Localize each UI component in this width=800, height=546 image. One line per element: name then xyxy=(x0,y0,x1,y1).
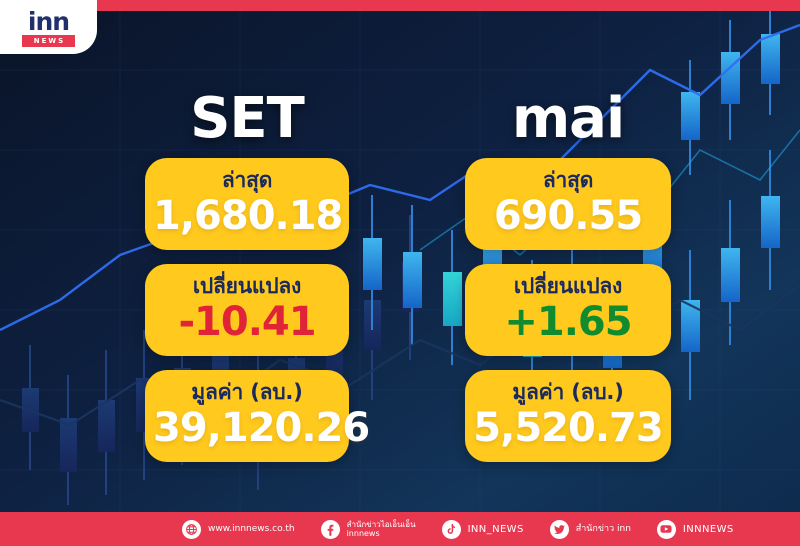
card-value: -10.41 xyxy=(153,299,341,345)
card-label: เปลี่ยนแปลง xyxy=(473,273,663,299)
globe-icon xyxy=(182,520,201,539)
card-label: ล่าสุด xyxy=(153,167,341,193)
footer-tiktok[interactable]: INN_NEWS xyxy=(442,520,524,539)
top-accent-bar xyxy=(0,0,800,11)
footer-website-label: www.innnews.co.th xyxy=(208,524,295,535)
youtube-icon xyxy=(657,520,676,539)
logo-wordmark: inn xyxy=(28,11,69,33)
index-name-set: SET xyxy=(145,88,349,150)
twitter-icon xyxy=(550,520,569,539)
footer-youtube-label: INNNEWS xyxy=(683,524,734,535)
facebook-icon xyxy=(321,520,340,539)
footer-facebook-line2: innnews xyxy=(347,529,416,539)
set-last-price-card: ล่าสุด 1,680.18 xyxy=(145,158,349,250)
card-value: 690.55 xyxy=(473,193,663,239)
inn-news-logo[interactable]: inn NEWS xyxy=(0,0,97,54)
card-value: +1.65 xyxy=(473,299,663,345)
footer-website[interactable]: www.innnews.co.th xyxy=(182,520,295,539)
footer-youtube[interactable]: INNNEWS xyxy=(657,520,734,539)
card-value: 39,120.26 xyxy=(153,405,341,451)
index-panel-mai: mai ล่าสุด 690.55 เปลี่ยนแปลง +1.65 มูลค… xyxy=(465,88,671,476)
index-name-mai: mai xyxy=(465,88,671,150)
mai-value-card: มูลค่า (ลบ.) 5,520.73 xyxy=(465,370,671,462)
card-label: มูลค่า (ลบ.) xyxy=(153,379,341,405)
footer-twitter[interactable]: สำนักข่าว inn xyxy=(550,520,631,539)
stock-index-infographic: inn NEWS SET ล่าสุด 1,680.18 เปลี่ยนแปลง… xyxy=(0,0,800,546)
footer-twitter-label: สำนักข่าว inn xyxy=(576,524,631,535)
footer-facebook-line1: สำนักข่าวไอเอ็นเอ็น xyxy=(347,520,416,530)
footer-facebook-labels: สำนักข่าวไอเอ็นเอ็น innnews xyxy=(347,520,416,539)
mai-last-price-card: ล่าสุด 690.55 xyxy=(465,158,671,250)
set-value-card: มูลค่า (ลบ.) 39,120.26 xyxy=(145,370,349,462)
set-change-card: เปลี่ยนแปลง -10.41 xyxy=(145,264,349,356)
card-value: 5,520.73 xyxy=(473,405,663,451)
logo-news-badge: NEWS xyxy=(22,35,75,47)
card-label: มูลค่า (ลบ.) xyxy=(473,379,663,405)
footer-facebook[interactable]: สำนักข่าวไอเอ็นเอ็น innnews xyxy=(321,520,416,539)
background-chart-art xyxy=(0,0,800,546)
tiktok-icon xyxy=(442,520,461,539)
social-footer-bar: www.innnews.co.th สำนักข่าวไอเอ็นเอ็น in… xyxy=(0,512,800,546)
mai-change-card: เปลี่ยนแปลง +1.65 xyxy=(465,264,671,356)
footer-tiktok-label: INN_NEWS xyxy=(468,524,524,535)
card-label: เปลี่ยนแปลง xyxy=(153,273,341,299)
index-panel-set: SET ล่าสุด 1,680.18 เปลี่ยนแปลง -10.41 ม… xyxy=(145,88,349,476)
card-label: ล่าสุด xyxy=(473,167,663,193)
card-value: 1,680.18 xyxy=(153,193,341,239)
